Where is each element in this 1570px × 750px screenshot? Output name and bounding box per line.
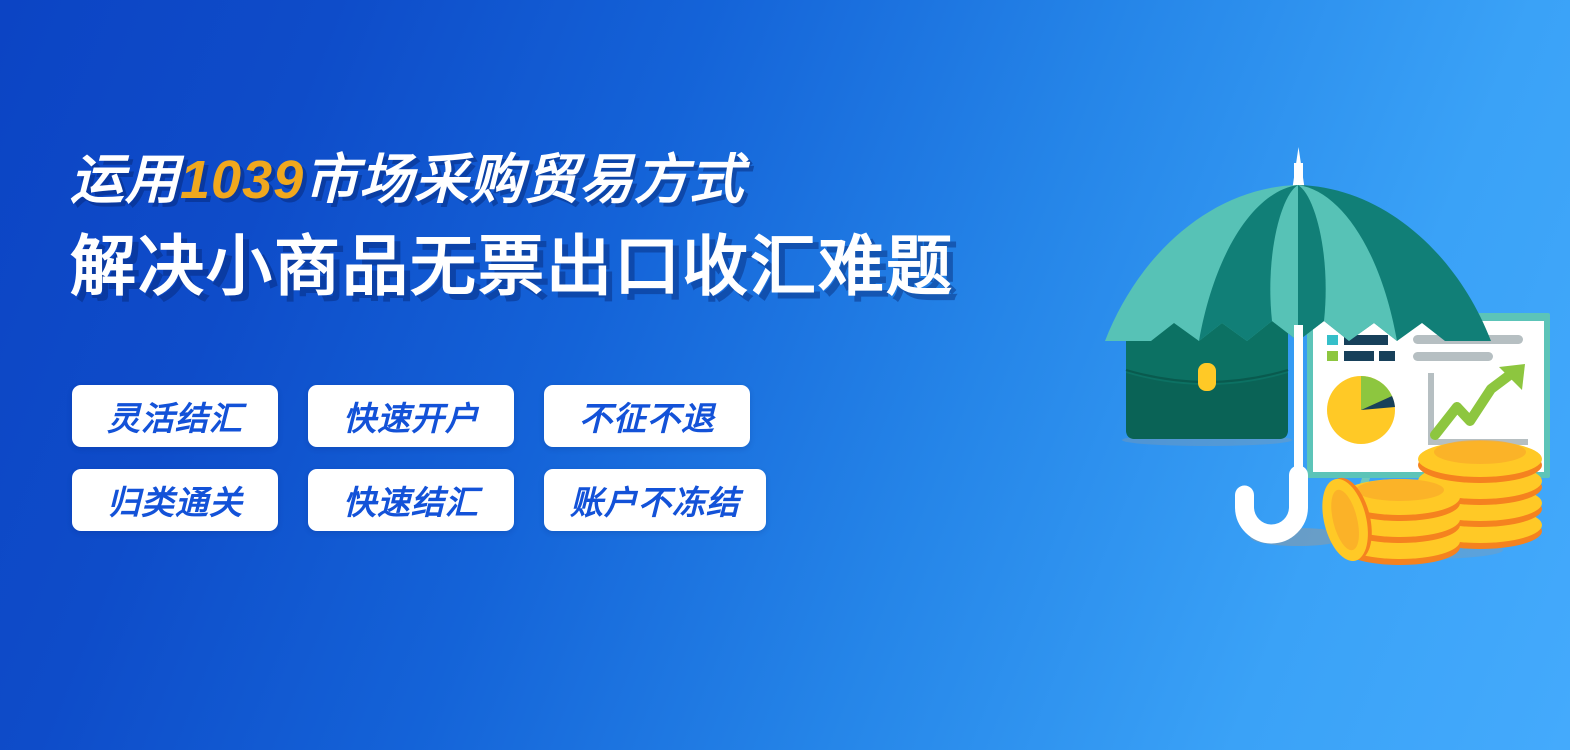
- headline-line-1-prefix: 运用: [70, 150, 180, 210]
- headline-policy-number: 1039: [180, 150, 304, 210]
- feature-pill-customs-classification[interactable]: 归类通关: [72, 469, 278, 531]
- promo-banner: 运用1039市场采购贸易方式 解决小商品无票出口收汇难题 灵活结汇 快速开户 不…: [0, 0, 1570, 750]
- feature-pill-row-2: 归类通关 快速结汇 账户不冻结: [72, 469, 766, 531]
- feature-pill-label: 快速结汇: [343, 476, 479, 524]
- feature-pill-fast-account-opening[interactable]: 快速开户: [308, 385, 514, 447]
- feature-pill-flexible-settlement[interactable]: 灵活结汇: [72, 385, 278, 447]
- headline-block: 运用1039市场采购贸易方式 解决小商品无票出口收汇难题: [70, 150, 950, 304]
- feature-pill-label: 灵活结汇: [107, 392, 243, 440]
- feature-pill-fast-settlement[interactable]: 快速结汇: [308, 469, 514, 531]
- feature-pill-label: 不征不退: [579, 392, 715, 440]
- feature-pill-account-not-frozen[interactable]: 账户不冻结: [544, 469, 766, 531]
- headline-line-1-suffix: 市场采购贸易方式: [304, 150, 744, 210]
- feature-pill-grid: 灵活结汇 快速开户 不征不退 归类通关 快速结汇 账户不冻结: [72, 385, 766, 531]
- headline-line-2: 解决小商品无票出口收汇难题: [70, 230, 950, 304]
- feature-pill-row-1: 灵活结汇 快速开户 不征不退: [72, 385, 766, 447]
- feature-pill-label: 账户不冻结: [570, 476, 740, 524]
- headline-line-1: 运用1039市场采购贸易方式: [70, 150, 950, 210]
- feature-pill-label: 快速开户: [343, 392, 479, 440]
- hero-illustration: [1095, 145, 1550, 575]
- pie-chart-icon: [1327, 376, 1395, 444]
- feature-pill-no-tax-no-refund[interactable]: 不征不退: [544, 385, 750, 447]
- feature-pill-label: 归类通关: [107, 476, 243, 524]
